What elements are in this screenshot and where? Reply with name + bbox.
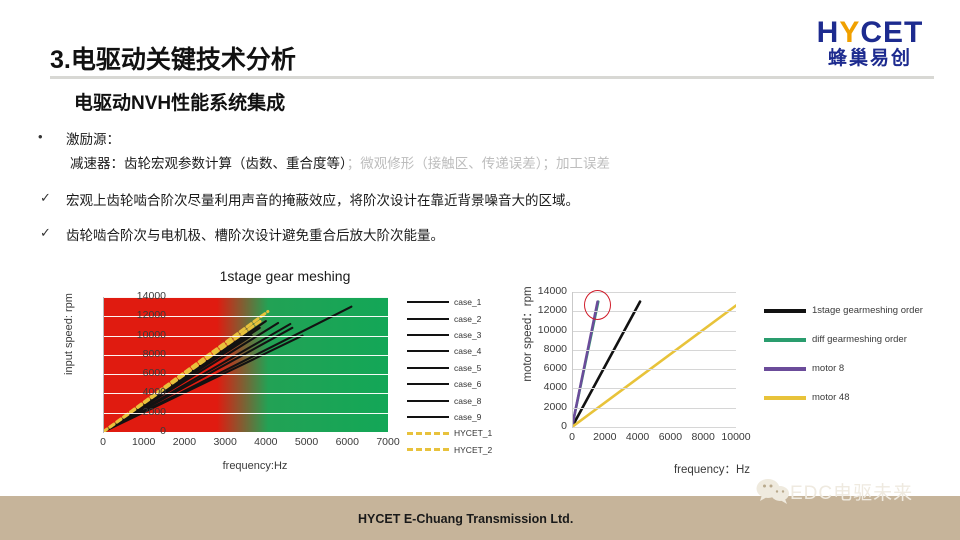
logo-accent-letter: Y — [839, 16, 860, 49]
chart-right-ytick: 12000 — [521, 304, 567, 316]
chart-left-xtick: 7000 — [368, 436, 408, 448]
legend-swatch — [407, 301, 449, 303]
page-subtitle: 电驱动NVH性能系统集成 — [74, 88, 285, 115]
chart-left-legend-item: case_4 — [407, 343, 503, 359]
chart-left-legend: case_1case_2case_3case_4case_5case_6case… — [407, 294, 503, 458]
logo-chinese-name: 蜂巢易创 — [804, 48, 936, 70]
bullet-1-strong: 减速器：齿轮宏观参数计算（齿数、重合度等） — [70, 156, 347, 171]
bullet-text-1-detail: 减速器：齿轮宏观参数计算（齿数、重合度等）；微观修形（接触区、传递误差）；加工误… — [70, 152, 610, 172]
chart-right-motor-order: motor speed：rpm frequency：Hz 02000400060… — [512, 278, 942, 490]
bullet-marker-3: ✓ — [40, 225, 51, 241]
title-divider — [50, 76, 934, 79]
legend-label: case_1 — [454, 297, 481, 307]
legend-label: case_9 — [454, 412, 481, 422]
chart-left-legend-item: case_9 — [407, 409, 503, 425]
chart-left-xtick: 4000 — [246, 436, 286, 448]
chart-left-ytick: 12000 — [122, 309, 166, 321]
legend-swatch — [407, 350, 449, 352]
bullet-marker-1: • — [38, 129, 43, 144]
chart-right-ytick: 8000 — [521, 343, 567, 355]
page-title: 3.电驱动关键技术分析 — [50, 40, 296, 76]
legend-label: HYCET_2 — [454, 445, 492, 455]
legend-label: case_5 — [454, 363, 481, 373]
legend-swatch — [407, 334, 449, 336]
chart-left-ytick: 14000 — [122, 290, 166, 302]
legend-label: motor 8 — [812, 363, 844, 374]
wechat-label: EDC电驱未来 — [790, 478, 913, 505]
wechat-badge: EDC电驱未来 — [756, 474, 944, 508]
chart-right-legend-item: diff gearmeshing order — [764, 325, 944, 354]
chart-right-gridline — [572, 427, 736, 428]
bullet-text-3: 齿轮啮合阶次与电机极、槽阶次设计避免重合后放大阶次能量。 — [66, 224, 444, 244]
legend-label: case_6 — [454, 379, 481, 389]
chart-left-legend-item: case_1 — [407, 294, 503, 310]
legend-label: case_4 — [454, 346, 481, 356]
chart-left-legend-item: case_5 — [407, 360, 503, 376]
logo-wordmark: HYCET — [804, 18, 936, 48]
chart-left-ytick: 2000 — [122, 406, 166, 418]
chart-left-legend-item: case_8 — [407, 392, 503, 408]
chart-right-ytick: 2000 — [521, 401, 567, 413]
chart-right-gridline — [572, 369, 736, 370]
chart-right-legend-item: motor 8 — [764, 354, 944, 383]
chart-right-gridline — [572, 331, 736, 332]
bullet-marker-2: ✓ — [40, 190, 51, 206]
chart-left-ylabel: input speed: rpm — [63, 264, 75, 404]
chart-left-legend-item: HYCET_2 — [407, 442, 503, 458]
legend-swatch — [407, 383, 449, 385]
legend-swatch — [407, 432, 449, 435]
chart-left-xtick: 0 — [83, 436, 123, 448]
legend-swatch — [407, 318, 449, 320]
legend-label: case_8 — [454, 396, 481, 406]
chart-left-ytick: 4000 — [122, 386, 166, 398]
chart-left-xtick: 2000 — [164, 436, 204, 448]
chart-left-legend-item: HYCET_1 — [407, 425, 503, 441]
legend-label: 1stage gearmeshing order — [812, 305, 923, 316]
chart-right-series-motor-48 — [572, 306, 736, 428]
chart-left-xtick: 6000 — [327, 436, 367, 448]
slide-root: HYCET 蜂巢易创 3.电驱动关键技术分析 电驱动NVH性能系统集成 • 激励… — [0, 0, 960, 540]
chart-right-gridline — [572, 408, 736, 409]
chart-left-ytick: 6000 — [122, 367, 166, 379]
legend-swatch — [407, 416, 449, 418]
legend-swatch — [764, 309, 806, 313]
legend-label: case_2 — [454, 314, 481, 324]
legend-label: HYCET_1 — [454, 428, 492, 438]
chart-left-xtick: 3000 — [205, 436, 245, 448]
legend-label: case_3 — [454, 330, 481, 340]
footer-company-name: HYCET E-Chuang Transmission Ltd. — [358, 512, 573, 526]
chart-left-gear-meshing: 1stage gear meshing input speed: rpm fre… — [55, 268, 503, 490]
chart-left-xtick: 5000 — [287, 436, 327, 448]
chart-right-ytick: 14000 — [521, 285, 567, 297]
chart-left-ytick: 10000 — [122, 329, 166, 341]
order-overlap-highlight-circle — [584, 290, 611, 320]
chart-left-legend-item: case_3 — [407, 327, 503, 343]
chart-right-ytick: 6000 — [521, 362, 567, 374]
chart-left-y-axis — [103, 297, 104, 433]
legend-swatch — [407, 448, 449, 451]
chart-right-gridline — [572, 350, 736, 351]
bullet-1-dim: ；微观修形（接触区、传递误差）；加工误差 — [347, 156, 610, 171]
legend-swatch — [764, 367, 806, 371]
legend-swatch — [407, 367, 449, 369]
chart-left-ytick: 8000 — [122, 348, 166, 360]
logo-wordmark-text: HYCET — [817, 16, 924, 49]
chart-right-ytick: 10000 — [521, 324, 567, 336]
chart-right-gridline — [572, 388, 736, 389]
chart-left-title: 1stage gear meshing — [175, 268, 395, 284]
wechat-icon — [756, 478, 790, 504]
chart-right-ytick: 4000 — [521, 381, 567, 393]
chart-left-legend-item: case_2 — [407, 310, 503, 326]
chart-left-xlabel: frequency:Hz — [155, 460, 355, 472]
legend-swatch — [764, 396, 806, 400]
bullet-text-1: 激励源： — [66, 128, 120, 148]
chart-right-y-axis — [572, 292, 573, 428]
chart-right-xtick: 10000 — [716, 431, 756, 443]
legend-label: motor 48 — [812, 392, 850, 403]
chart-right-legend-item: 1stage gearmeshing order — [764, 296, 944, 325]
chart-left-xtick: 1000 — [124, 436, 164, 448]
chart-left-legend-item: case_6 — [407, 376, 503, 392]
chart-right-legend-item: motor 48 — [764, 383, 944, 412]
legend-swatch — [407, 400, 449, 402]
bullet-text-2: 宏观上齿轮啮合阶次尽量利用声音的掩蔽效应，将阶次设计在靠近背景噪音大的区域。 — [66, 189, 579, 209]
legend-swatch — [764, 338, 806, 342]
legend-label: diff gearmeshing order — [812, 334, 907, 345]
hycet-logo: HYCET 蜂巢易创 — [804, 18, 936, 72]
chart-right-legend: 1stage gearmeshing orderdiff gearmeshing… — [764, 296, 944, 412]
